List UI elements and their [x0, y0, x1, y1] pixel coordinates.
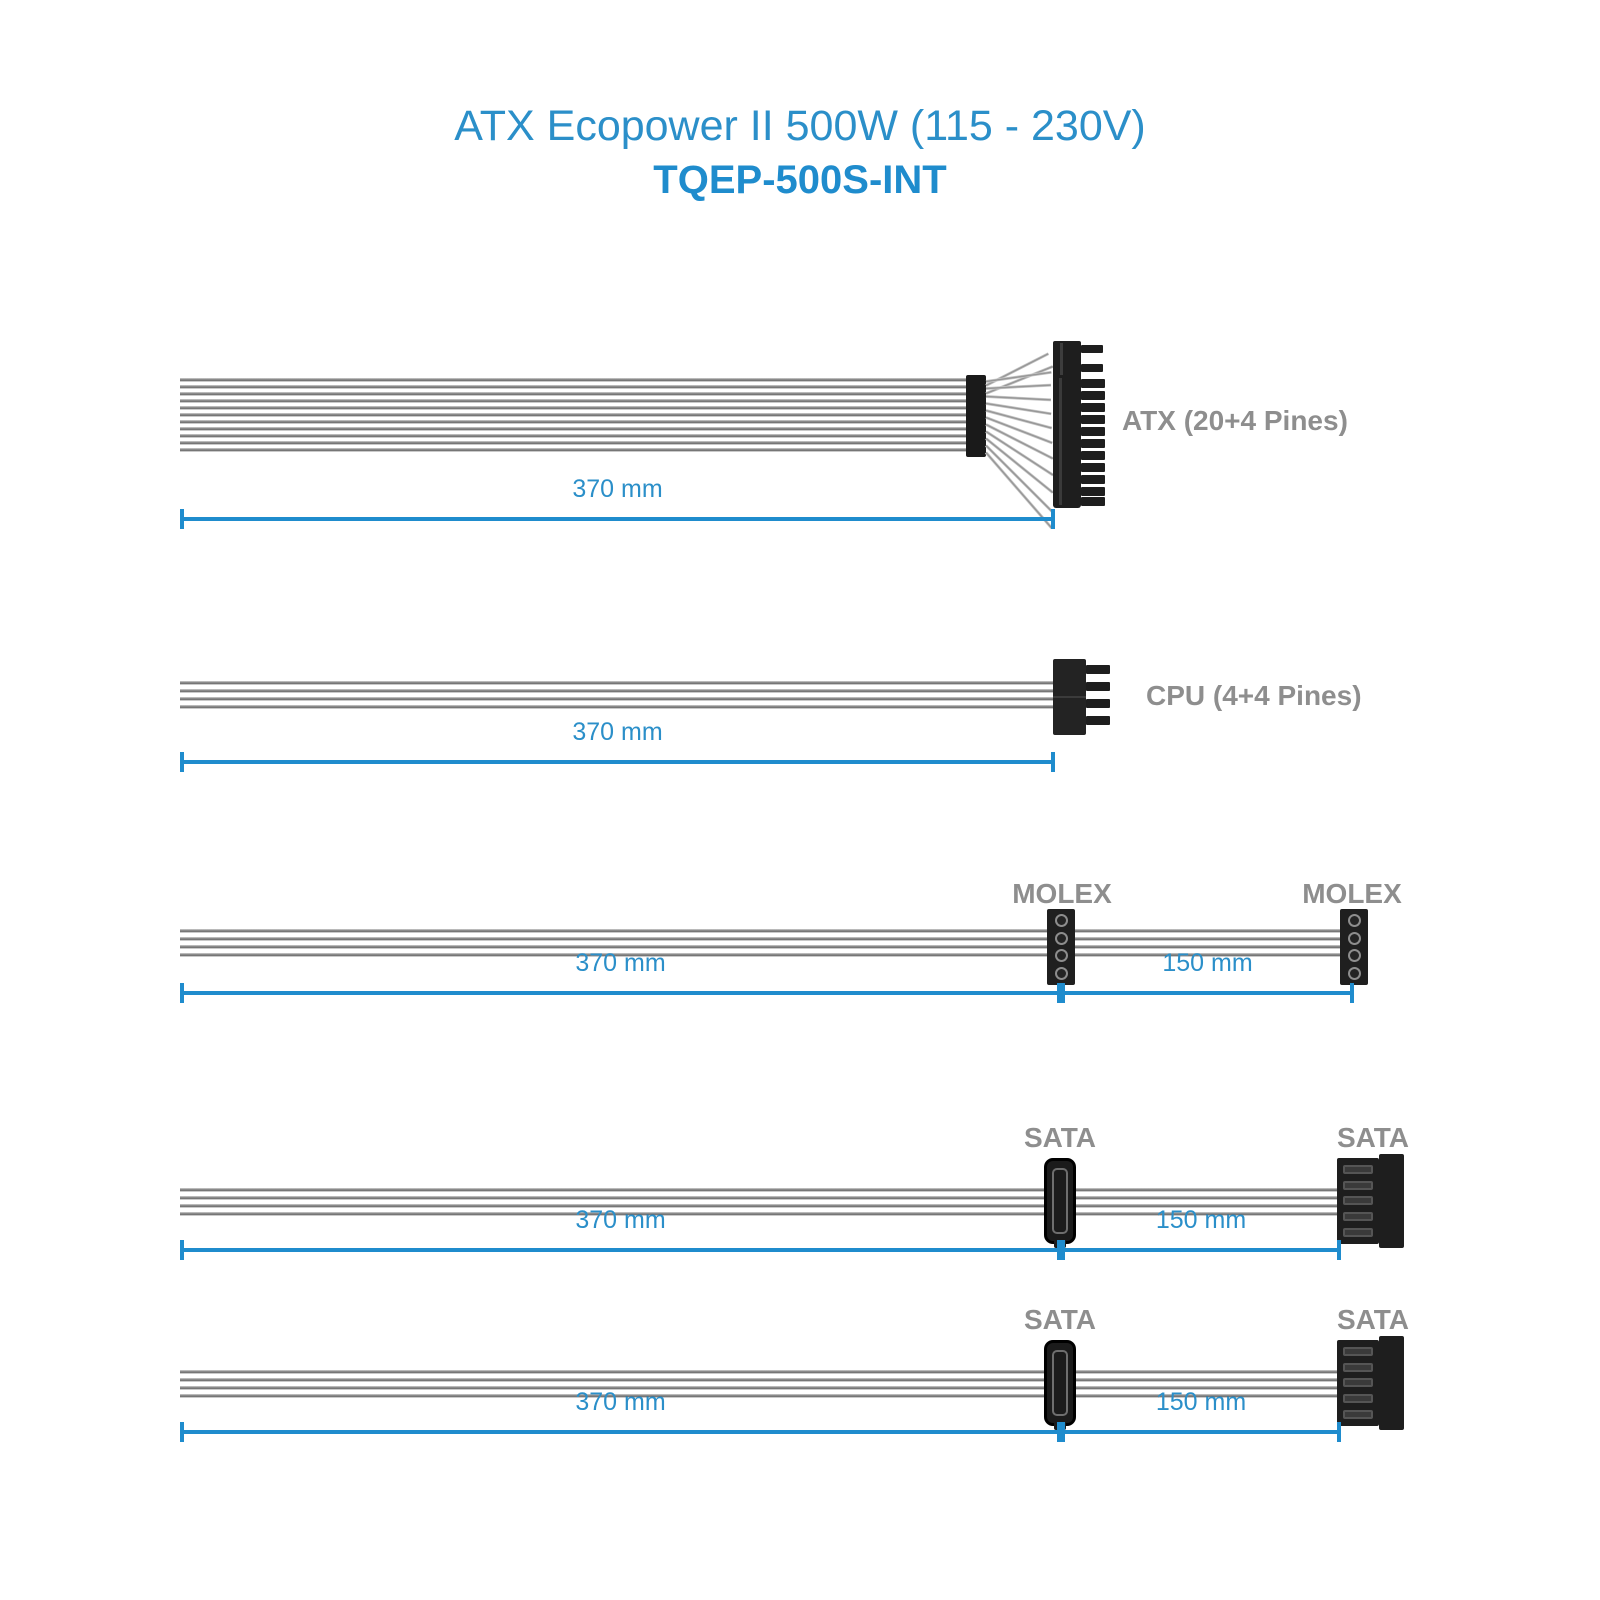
wire	[180, 681, 1060, 685]
cpu-wire-bundle	[180, 681, 1060, 707]
molex-pin-hole	[1055, 914, 1068, 927]
cpu-connector-body	[1053, 659, 1086, 735]
diagram-canvas: ATX Ecopower II 500W (115 - 230V) TQEP-5…	[0, 0, 1600, 1600]
sata2-length-label-370: 370 mm	[180, 1388, 1061, 1417]
product-model: TQEP-500S-INT	[0, 156, 1600, 205]
sata-slot-box	[1337, 1340, 1379, 1426]
sata1-label-end: SATA	[1337, 1122, 1409, 1154]
molex-pin-hole	[1348, 914, 1361, 927]
atx-20pin-pin	[1081, 391, 1105, 400]
dimension-tick-left	[180, 1240, 184, 1260]
wire	[180, 1370, 1360, 1374]
connector-seam	[1059, 378, 1062, 505]
atx-4pin-connector	[1053, 341, 1081, 379]
wire	[180, 378, 970, 382]
cpu-connector-label: CPU (4+4 Pines)	[1146, 680, 1362, 712]
sata-slot	[1343, 1228, 1373, 1237]
cpu-pin	[1086, 699, 1110, 708]
cpu-pin	[1086, 682, 1110, 691]
atx-20pin-connector	[1053, 375, 1081, 508]
sata1-dimension-line-150: 150 mm	[1061, 1248, 1341, 1252]
dimension-tick-right	[1337, 1240, 1341, 1260]
wire	[180, 441, 970, 445]
sata-connector-end	[1337, 1340, 1404, 1432]
wire	[180, 1378, 1360, 1382]
atx-cable-junction	[966, 375, 986, 457]
atx-20pin-pin	[1081, 463, 1105, 472]
cpu-length-label: 370 mm	[180, 718, 1055, 747]
wire	[180, 427, 970, 431]
sata2-dimension-line-150: 150 mm	[1061, 1430, 1341, 1434]
wire	[180, 434, 970, 438]
dimension-tick-left	[180, 752, 184, 772]
sata1-label-inline: SATA	[1024, 1122, 1096, 1154]
atx-4pin-pin	[1081, 345, 1103, 353]
sata2-label-end: SATA	[1337, 1304, 1409, 1336]
wire	[180, 385, 970, 389]
atx-4pin-pin	[1081, 364, 1103, 372]
atx-20pin-pin	[1081, 475, 1105, 484]
molex-label-inline: MOLEX	[1012, 878, 1112, 910]
atx-20pin-pin	[1081, 497, 1105, 506]
sata1-dimension-line-370: 370 mm	[180, 1248, 1061, 1252]
sata-connector-end	[1337, 1158, 1404, 1250]
cpu-dimension-line: 370 mm	[180, 760, 1055, 764]
connector-seam	[1060, 343, 1063, 377]
wire	[180, 392, 970, 396]
sata-slot	[1343, 1347, 1373, 1356]
atx-20pin-pin	[1081, 403, 1105, 412]
molex-pin-hole	[1055, 932, 1068, 945]
fan-wire	[986, 395, 1051, 401]
wire	[180, 406, 970, 410]
dimension-tick-left	[180, 1422, 184, 1442]
atx-20pin-pin	[1081, 487, 1105, 496]
dimension-tick-left	[180, 983, 184, 1003]
page-title: ATX Ecopower II 500W (115 - 230V) TQEP-5…	[0, 100, 1600, 205]
dimension-tick-left	[1061, 1240, 1065, 1260]
atx-20pin-pin	[1081, 415, 1105, 424]
sata-slot	[1343, 1181, 1373, 1190]
cpu-pin	[1086, 665, 1110, 674]
molex-length-label-370: 370 mm	[180, 949, 1061, 978]
dimension-tick-left	[180, 509, 184, 529]
dimension-tick-right	[1337, 1422, 1341, 1442]
sata-slot	[1343, 1410, 1373, 1419]
wire	[180, 697, 1060, 701]
wire	[180, 705, 1060, 709]
molex-length-label-150: 150 mm	[1061, 949, 1354, 978]
sata-body-block	[1379, 1154, 1404, 1248]
fan-wire	[986, 384, 1051, 390]
sata-slot	[1343, 1165, 1373, 1174]
molex-dimension-line-150: 150 mm	[1061, 991, 1354, 995]
dimension-tick-left	[1061, 1422, 1065, 1442]
sata-slot	[1343, 1378, 1373, 1387]
atx-20pin-pin	[1081, 439, 1105, 448]
wire	[180, 413, 970, 417]
dimension-tick-right	[1051, 509, 1055, 529]
sata-slot	[1343, 1394, 1373, 1403]
atx-connector-label: ATX (20+4 Pines)	[1122, 405, 1348, 437]
wire	[180, 420, 970, 424]
sata2-length-label-150: 150 mm	[1061, 1388, 1341, 1417]
sata1-length-label-150: 150 mm	[1061, 1206, 1341, 1235]
sata-slot-box	[1337, 1158, 1379, 1244]
molex-pin-hole	[1348, 932, 1361, 945]
dimension-tick-left	[1061, 983, 1065, 1003]
molex-label-end: MOLEX	[1302, 878, 1402, 910]
wire	[180, 1196, 1360, 1200]
sata-slot	[1343, 1196, 1373, 1205]
dimension-tick-right	[1051, 752, 1055, 772]
molex-dimension-line-370: 370 mm	[180, 991, 1061, 995]
wire	[180, 937, 1360, 941]
wire	[180, 1188, 1360, 1192]
sata1-length-label-370: 370 mm	[180, 1206, 1061, 1235]
wire	[180, 689, 1060, 693]
connector-seam	[1053, 696, 1086, 698]
wire	[180, 448, 970, 452]
sata-body-block	[1379, 1336, 1404, 1430]
atx-wire-bundle	[180, 378, 970, 450]
sata-slot	[1343, 1363, 1373, 1372]
atx-20pin-pin	[1081, 427, 1105, 436]
dimension-tick-right	[1350, 983, 1354, 1003]
wire	[180, 929, 1360, 933]
atx-length-label: 370 mm	[180, 475, 1055, 504]
atx-20pin-pin	[1081, 451, 1105, 460]
sata2-dimension-line-370: 370 mm	[180, 1430, 1061, 1434]
atx-20pin-pin	[1081, 379, 1105, 388]
product-title: ATX Ecopower II 500W (115 - 230V)	[0, 100, 1600, 152]
atx-dimension-line: 370 mm	[180, 517, 1055, 521]
cpu-pin	[1086, 716, 1110, 725]
sata-slot	[1343, 1212, 1373, 1221]
wire	[180, 399, 970, 403]
sata2-label-inline: SATA	[1024, 1304, 1096, 1336]
